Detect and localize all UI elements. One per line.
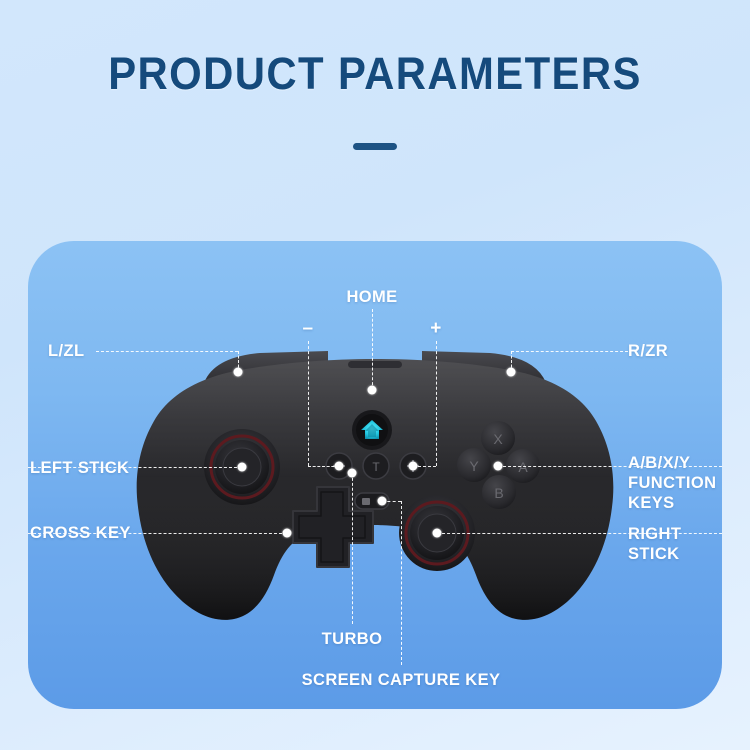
hotspot-plus [409,462,418,471]
svg-text:T: T [372,460,380,474]
cross-key-graphic [293,487,373,567]
hotspot-home [368,386,377,395]
leader-plus [436,341,437,466]
label-r-zr: R/ZR [628,341,668,361]
label-home: HOME [346,287,397,307]
label-screen-capture-key: SCREEN CAPTURE KEY [302,670,501,690]
leader-r-zr [511,351,628,352]
hotspot-cross-key [283,529,292,538]
hotspot-left-stick [238,463,247,472]
hotspot-l-zl [234,368,243,377]
label-l-zl: L/ZL [48,341,84,361]
hotspot-right-stick [433,529,442,538]
label-right-stick: RIGHT STICK [628,524,681,564]
hotspot-turbo [348,469,357,478]
leader-home [372,309,373,390]
product-diagram-card: X Y A B T [28,241,722,709]
label-plus: + [430,319,442,339]
svg-text:A: A [518,459,528,475]
hotspot-capture [378,497,387,506]
label-abxy-function-keys: A/B/X/Y FUNCTION KEYS [628,453,716,513]
hotspot-abxy [494,462,503,471]
hotspot-minus [335,462,344,471]
svg-text:Y: Y [469,458,479,474]
hotspot-r-zr [507,368,516,377]
label-turbo: TURBO [322,629,383,649]
leader-minus [308,341,309,466]
home-button-graphic [352,410,392,450]
label-cross-key: CROSS KEY [30,523,131,543]
page-title: PRODUCT PARAMETERS [26,48,724,100]
leader-capture [401,501,402,665]
leader-l-zl [96,351,238,352]
svg-text:B: B [494,485,503,501]
label-minus: – [303,319,314,339]
svg-text:X: X [493,431,503,447]
title-divider [353,143,397,150]
leader-turbo [352,473,353,624]
label-left-stick: LEFT STICK [30,458,129,478]
